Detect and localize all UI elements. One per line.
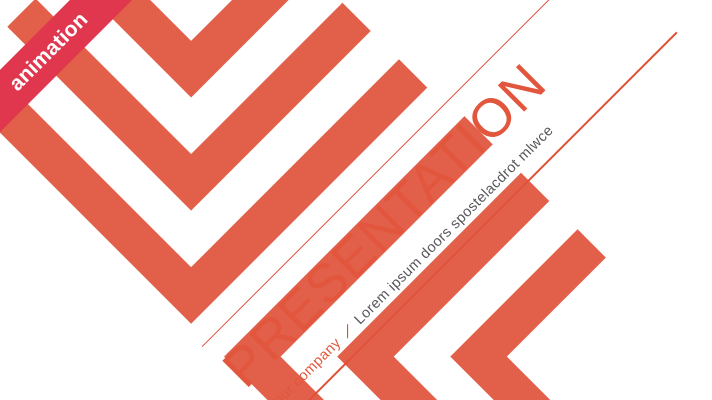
corner-ribbon-band[interactable]: animation [0,0,146,149]
corner-ribbon-label: animation [5,8,93,96]
presentation-slide: PRESENTATION Your company Lorem ipsum do… [0,0,712,400]
subtitle-separator-slash [347,324,348,338]
corner-ribbon[interactable]: animation [0,0,155,155]
